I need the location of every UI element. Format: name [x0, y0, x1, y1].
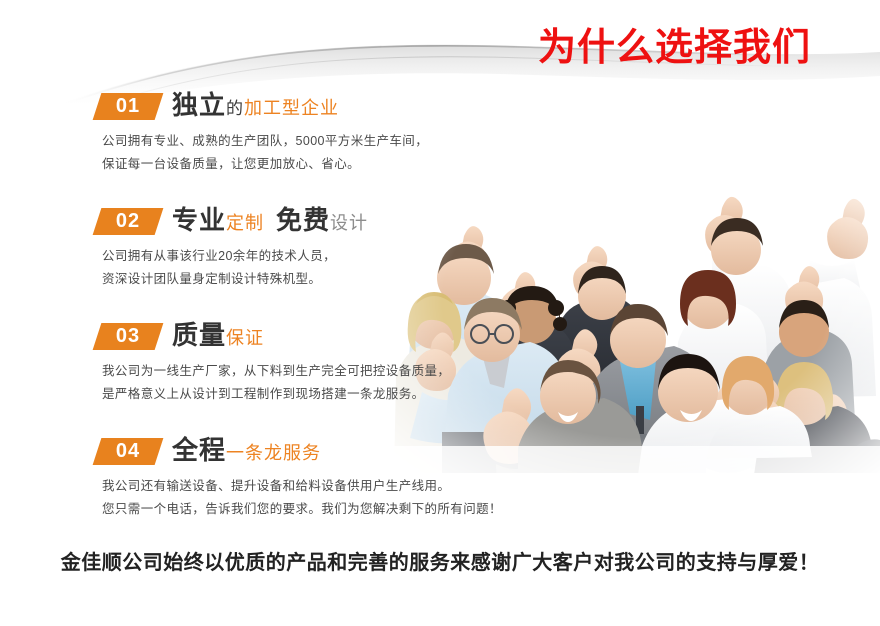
why-choose-us-banner: 为什么选择我们	[0, 0, 880, 626]
description-line: 我公司还有输送设备、提升设备和给料设备供用户生产线用。	[102, 475, 502, 498]
feature-keyword-muted: 设计	[330, 213, 368, 233]
description-line: 您只需一个电话，告诉我们您的要求。我们为您解决剩下的所有问题！	[102, 498, 502, 521]
description-line: 我公司为一线生产厂家，从下料到生产完全可把控设备质量，	[102, 360, 450, 383]
feature-keyword-accent: 保证	[226, 328, 264, 348]
feature-number: 03	[97, 323, 159, 350]
feature-number-badge: 04	[93, 438, 164, 465]
feature-number: 01	[97, 93, 159, 120]
list-item: 02 专业定制免费设计 公司拥有从事该行业20余年的技术人员， 资深设计团队量身…	[0, 203, 440, 318]
list-item: 03 质量保证 我公司为一线生产厂家，从下料到生产完全可把控设备质量， 是严格意…	[0, 318, 440, 433]
description-line: 公司拥有专业、成熟的生产团队，5000平方米生产车间，	[102, 130, 428, 153]
feature-keyword-accent: 加工型企业	[244, 98, 339, 118]
feature-keyword-secondary: 免费	[276, 205, 330, 235]
feature-keyword-primary: 专业	[172, 205, 226, 235]
feature-heading: 04 全程一条龙服务	[0, 433, 440, 473]
feature-keyword-primary: 独立	[172, 90, 226, 120]
feature-keyword-accent: 一条龙服务	[226, 443, 321, 463]
feature-number-badge: 03	[93, 323, 164, 350]
feature-title: 全程一条龙服务	[172, 430, 321, 473]
team-thumbs-up-photo	[392, 128, 880, 473]
description-line: 是严格意义上从设计到工程制作到现场搭建一条龙服务。	[102, 383, 450, 406]
feature-keyword-accent: 定制	[226, 213, 264, 233]
feature-number-badge: 02	[93, 208, 164, 235]
feature-keyword-connector: 的	[226, 99, 244, 118]
feature-number: 04	[97, 438, 159, 465]
feature-title: 独立的加工型企业	[172, 85, 339, 129]
feature-description: 公司拥有从事该行业20余年的技术人员， 资深设计团队量身定制设计特殊机型。	[102, 245, 336, 291]
feature-title: 专业定制免费设计	[172, 200, 368, 243]
feature-keyword-primary: 全程	[172, 435, 226, 465]
feature-keyword-primary: 质量	[172, 320, 226, 350]
feature-description: 公司拥有专业、成熟的生产团队，5000平方米生产车间， 保证每一台设备质量，让您…	[102, 130, 428, 176]
list-item: 04 全程一条龙服务 我公司还有输送设备、提升设备和给料设备供用户生产线用。 您…	[0, 433, 440, 548]
description-line: 保证每一台设备质量，让您更加放心、省心。	[102, 153, 428, 176]
feature-heading: 02 专业定制免费设计	[0, 203, 440, 243]
list-item: 01 独立的加工型企业 公司拥有专业、成熟的生产团队，5000平方米生产车间， …	[0, 88, 440, 203]
feature-description: 我公司还有输送设备、提升设备和给料设备供用户生产线用。 您只需一个电话，告诉我们…	[102, 475, 502, 521]
feature-heading: 01 独立的加工型企业	[0, 88, 440, 128]
footer-slogan: 金佳顺公司始终以优质的产品和完善的服务来感谢广大客户对我公司的支持与厚爱！	[0, 548, 880, 578]
feature-description: 我公司为一线生产厂家，从下料到生产完全可把控设备质量， 是严格意义上从设计到工程…	[102, 360, 450, 406]
feature-title: 质量保证	[172, 315, 264, 358]
feature-number: 02	[97, 208, 159, 235]
description-line: 公司拥有从事该行业20余年的技术人员，	[102, 245, 336, 268]
feature-heading: 03 质量保证	[0, 318, 440, 358]
description-line: 资深设计团队量身定制设计特殊机型。	[102, 268, 336, 291]
feature-list: 01 独立的加工型企业 公司拥有专业、成熟的生产团队，5000平方米生产车间， …	[0, 88, 440, 548]
page-title: 为什么选择我们	[538, 26, 811, 70]
feature-number-badge: 01	[93, 93, 164, 120]
